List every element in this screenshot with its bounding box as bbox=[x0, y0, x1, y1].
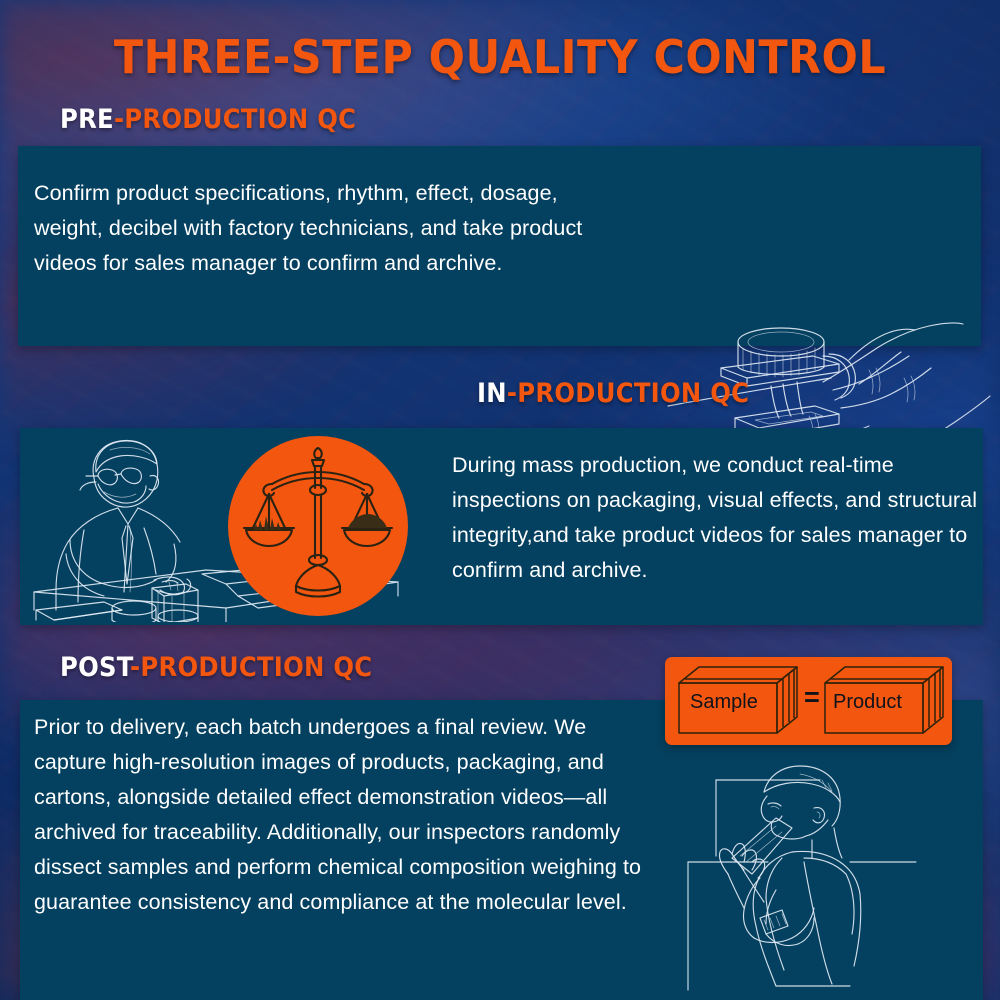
panel-in-body: During mass production, we conduct real-… bbox=[452, 448, 997, 588]
balance-scale-badge bbox=[228, 436, 408, 616]
page-title: THREE-STEP QUALITY CONTROL bbox=[35, 30, 965, 84]
step-heading-post: POST-PRODUCTION QC bbox=[60, 652, 372, 683]
panel-post-body: Prior to delivery, each batch undergoes … bbox=[34, 710, 659, 920]
step-heading-in: IN-PRODUCTION QC bbox=[477, 378, 749, 409]
banner-label-product: Product bbox=[833, 692, 902, 712]
step-heading-in-orange: -PRODUCTION QC bbox=[507, 378, 749, 409]
inspector-with-tablet-icon bbox=[672, 758, 962, 998]
panel-pre-body: Confirm product specifications, rhythm, … bbox=[34, 176, 594, 281]
step-heading-pre-orange: -PRODUCTION QC bbox=[114, 104, 356, 135]
step-heading-in-white: IN bbox=[477, 378, 507, 409]
banner-equals-sign: = bbox=[804, 687, 820, 707]
sample-equals-product-banner: Sample = Product bbox=[665, 657, 952, 745]
banner-label-sample: Sample bbox=[690, 692, 758, 712]
step-heading-pre: PRE-PRODUCTION QC bbox=[60, 104, 356, 135]
infographic-canvas: THREE-STEP QUALITY CONTROL PRE-PRODUCTIO… bbox=[0, 0, 1000, 1000]
step-heading-post-orange: -PRODUCTION QC bbox=[130, 652, 372, 683]
panel-pre-production: Confirm product specifications, rhythm, … bbox=[18, 146, 981, 346]
step-heading-post-white: POST bbox=[60, 652, 130, 683]
step-heading-pre-white: PRE bbox=[60, 104, 114, 135]
